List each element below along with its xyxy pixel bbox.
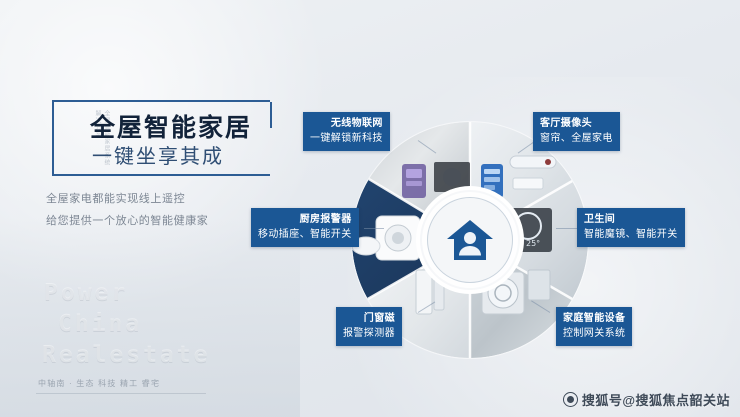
callout-doorwindow-detail: 报警探测器 (343, 326, 395, 341)
callout-wireless-title: 无线物联网 (310, 116, 383, 131)
callout-bathroom[interactable]: 卫生间 智能魔镜、智能开关 (577, 208, 685, 247)
callout-gateway-title: 家庭智能设备 (563, 311, 625, 326)
callout-gateway-detail: 控制网关系统 (563, 326, 625, 341)
callout-doorwindow-title: 门窗磁 (343, 311, 395, 326)
footnote-text: 中轴南 · 生态 科技 精工 睿宅 (38, 378, 160, 389)
callout-bathroom-detail: 智能魔镜、智能开关 (584, 227, 678, 242)
callout-kitchen-detail: 移动插座、智能开关 (258, 227, 352, 242)
sohu-watermark: 搜狐号@搜狐焦点韶关站 (563, 390, 730, 409)
sohu-watermark-text: 搜狐号@搜狐焦点韶关站 (582, 390, 730, 409)
callout-kitchen-title: 厨房报警器 (258, 212, 352, 227)
footnote-divider (36, 393, 206, 394)
headline-description-line-2: 给您提供一个放心的智能健康家 (46, 210, 276, 232)
callout-bathroom-title: 卫生间 (584, 212, 678, 227)
slide-canvas: 全屋智能家居系统解决方案 全屋智能家居 一键坐享其成 全屋家电都能实现线上遥控 … (0, 0, 740, 417)
svg-text:25°: 25° (526, 239, 540, 248)
brand-watermark: Power China Realestate (44, 278, 284, 371)
callout-livingroom-title: 客厅摄像头 (540, 116, 613, 131)
page-title: 全屋智能家居 (90, 108, 252, 144)
callout-doorwindow[interactable]: 门窗磁 报警探测器 (336, 307, 402, 346)
page-subtitle: 一键坐享其成 (92, 140, 224, 169)
callout-gateway[interactable]: 家庭智能设备 控制网关系统 (556, 307, 632, 346)
headline-description: 全屋家电都能实现线上遥控 给您提供一个放心的智能健康家 (46, 188, 276, 232)
leader-line-bathroom (556, 228, 578, 229)
brand-watermark-line-3: Realestate (42, 340, 284, 371)
callout-kitchen[interactable]: 厨房报警器 移动插座、智能开关 (251, 208, 359, 247)
callout-livingroom[interactable]: 客厅摄像头 窗帘、全屋家电 (533, 112, 620, 151)
leader-line-kitchen (364, 228, 384, 229)
sohu-logo-icon (563, 392, 578, 407)
callout-livingroom-detail: 窗帘、全屋家电 (540, 131, 613, 146)
callout-wireless[interactable]: 无线物联网 一键解锁新科技 (303, 112, 390, 151)
home-person-icon (445, 218, 495, 262)
brand-watermark-line-1: Power (44, 278, 284, 309)
brand-watermark-line-2: China (58, 309, 284, 340)
headline-description-line-1: 全屋家电都能实现线上遥控 (46, 188, 276, 210)
hub-circle[interactable] (427, 197, 513, 283)
callout-wireless-detail: 一键解锁新科技 (310, 131, 383, 146)
